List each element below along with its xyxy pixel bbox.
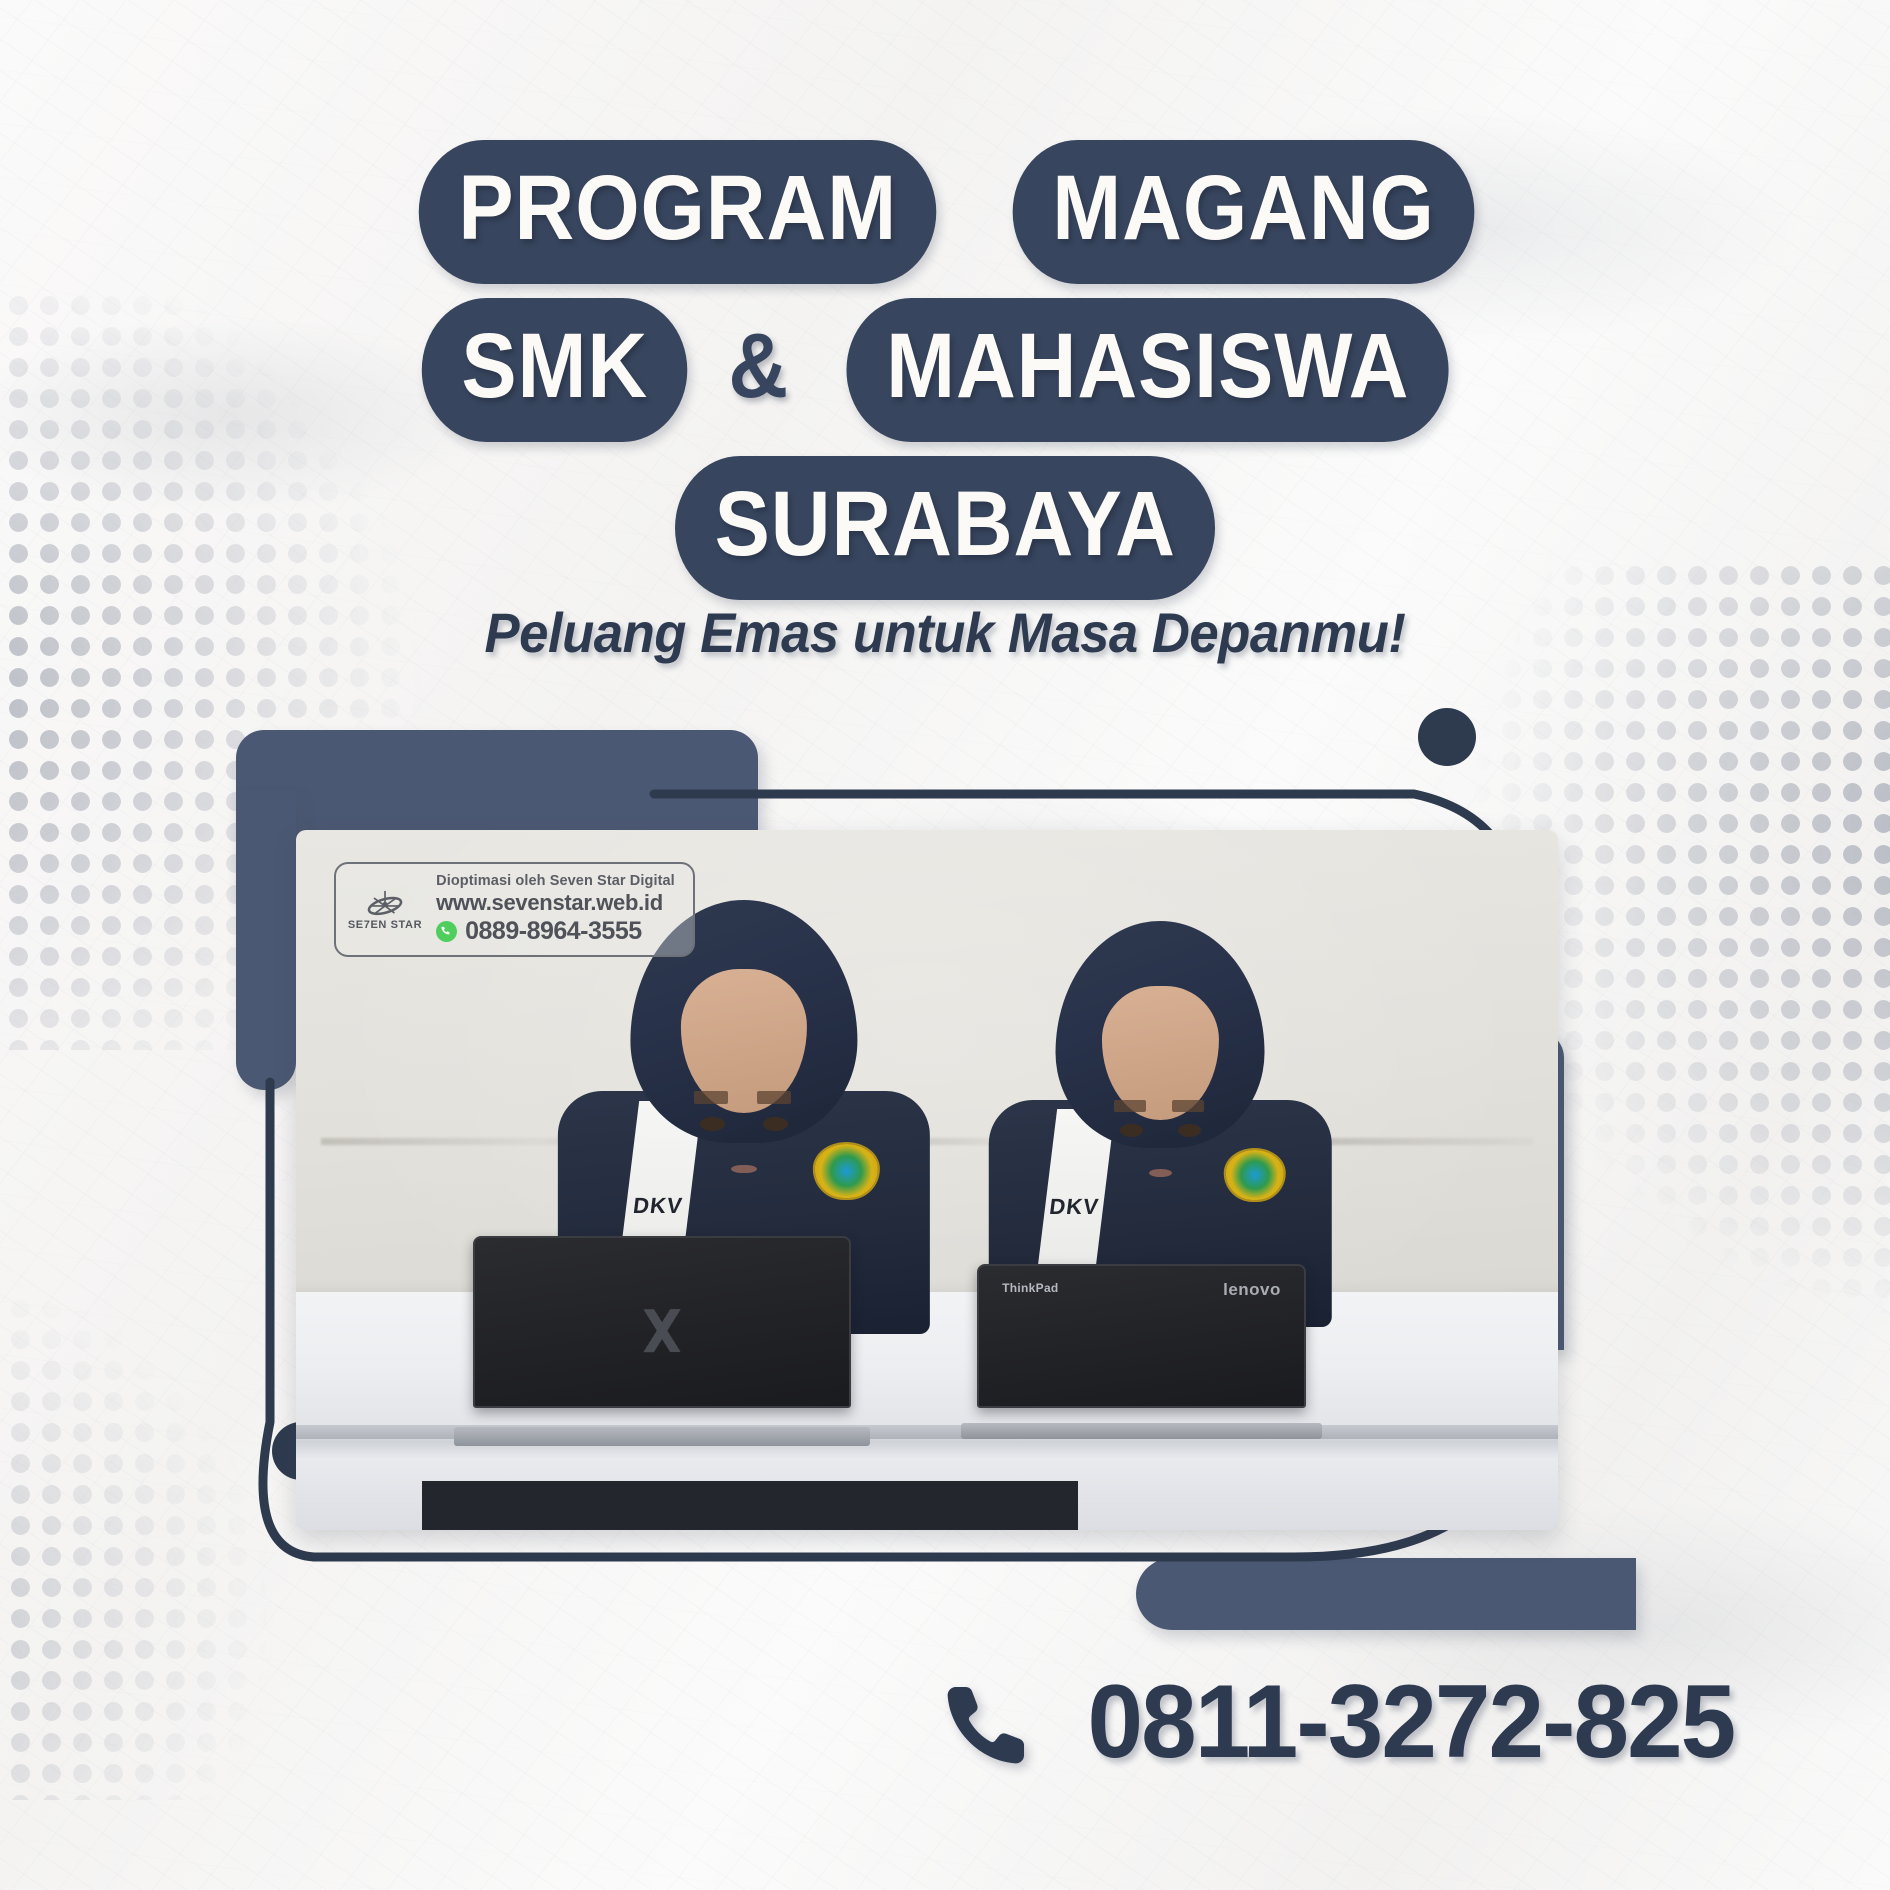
frame-corner-top-left-stem [236, 790, 296, 1090]
subtitle-tagline: Peluang Emas untuk Masa Depanmu! [57, 600, 1834, 665]
student-left-brow-right [757, 1091, 792, 1104]
internship-photo: DKV DKV [296, 830, 1558, 1530]
headline-pill-surabaya: SURABAYA [675, 456, 1215, 600]
laptop-left-logo-icon [610, 1309, 715, 1353]
watermark-logo: SE7EN STAR [348, 887, 422, 931]
student-left-school-badge [815, 1144, 878, 1197]
whatsapp-phone-icon [436, 921, 457, 942]
headline-pill-program: PROGRAM [419, 140, 937, 284]
photo-laptop-left [473, 1236, 852, 1446]
headline-pill-magang: MAGANG [1013, 140, 1475, 284]
student-right-brow-left [1114, 1100, 1146, 1112]
watermark-brand-text: SE7EN STAR [348, 919, 422, 931]
student-right-brow-right [1172, 1100, 1204, 1112]
poster-canvas: PROGRAM MAGANG SMK & MAHASISWA SURABAYA … [0, 0, 1890, 1890]
frame-node-dot-top-right [1418, 708, 1476, 766]
student-right-sash-label: DKV [1048, 1194, 1101, 1220]
watermark-tagline: Dioptimasi oleh Seven Star Digital [436, 873, 675, 889]
laptop-left-lid [473, 1236, 852, 1408]
laptop-right-lid: lenovo ThinkPad [977, 1264, 1305, 1408]
headline-block: PROGRAM MAGANG SMK & MAHASISWA SURABAYA [0, 140, 1890, 600]
student-right-school-badge [1226, 1150, 1284, 1200]
student-left-eye-left [700, 1117, 725, 1131]
laptop-left-base [454, 1427, 870, 1446]
laptop-right-brand-thinkpad: ThinkPad [1002, 1281, 1058, 1295]
watermark-text-block: Dioptimasi oleh Seven Star Digital www.s… [436, 873, 675, 946]
photo-frame-zone: DKV DKV [236, 730, 1636, 1630]
footer-contact-block: 0811-3272-825 [0, 1663, 1890, 1782]
student-left-brow-left [694, 1091, 729, 1104]
headline-pill-mahasiswa: MAHASISWA [847, 298, 1450, 442]
frame-corner-bottom-right-bar [1136, 1558, 1636, 1630]
headline-line-2: SMK & MAHASISWA [407, 298, 1482, 442]
laptop-right-base [961, 1423, 1322, 1439]
photo-laptop-right: lenovo ThinkPad [977, 1264, 1305, 1439]
student-right-eye-right [1178, 1124, 1201, 1137]
laptop-right-brand-lenovo: lenovo [1223, 1280, 1281, 1300]
footer-phone-number: 0811-3272-825 [1088, 1663, 1735, 1782]
photo-watermark: SE7EN STAR Dioptimasi oleh Seven Star Di… [334, 862, 695, 957]
watermark-phone-row: 0889-8964-3555 [436, 917, 675, 946]
headline-line-3: SURABAYA [645, 456, 1245, 600]
student-left-sash-label: DKV [632, 1193, 685, 1219]
watermark-phone-number: 0889-8964-3555 [465, 917, 642, 946]
watermark-website: www.sevenstar.web.id [436, 890, 675, 916]
student-right-eye-left [1120, 1124, 1143, 1137]
student-right-mouth [1149, 1169, 1172, 1177]
student-left-eye-right [763, 1117, 788, 1131]
headline-line-1: PROGRAM MAGANG [390, 140, 1501, 284]
photo-floor-shadow [422, 1481, 1078, 1530]
headline-pill-smk: SMK [422, 298, 688, 442]
seven-star-logo-icon [366, 887, 404, 917]
phone-handset-icon [942, 1677, 1034, 1769]
headline-ampersand: & [728, 320, 788, 420]
